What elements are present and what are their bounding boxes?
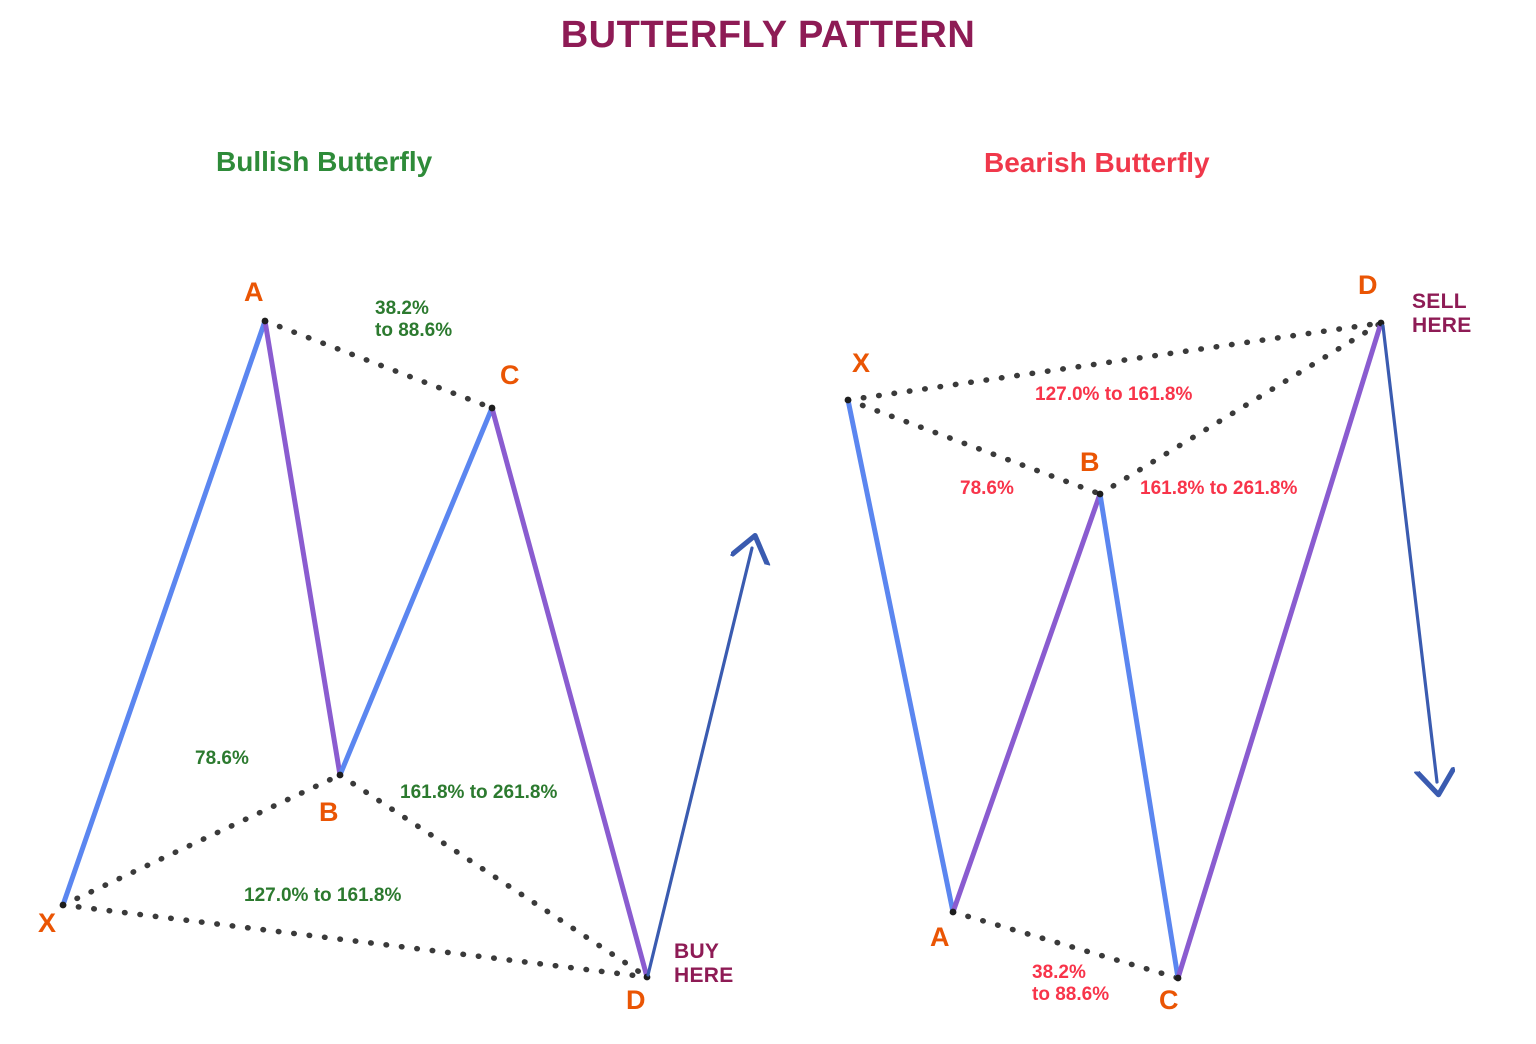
sell-here-label: SELLHERE [1412, 290, 1472, 337]
vertex-dot-bearish-X [845, 397, 852, 404]
leg-bearish-XA [848, 400, 953, 912]
fib-dotted-lines [63, 321, 1381, 978]
point-label-bullish-a: A [244, 279, 264, 306]
point-label-bearish-c: C [1159, 987, 1179, 1014]
fib-line-bullish-XD [63, 905, 647, 977]
point-label-bearish-a: A [930, 924, 950, 951]
point-label-bearish-x: X [852, 350, 870, 377]
pattern-vector-layer [0, 0, 1536, 1044]
point-label-bullish-x: X [38, 910, 56, 937]
vertex-dot-bullish-C [489, 405, 496, 412]
point-label-bullish-d: D [626, 987, 646, 1014]
leg-bullish-AB [265, 321, 340, 775]
vertex-dot-bearish-B [1097, 491, 1104, 498]
leg-bullish-CD [492, 408, 647, 977]
vertex-dot-bullish-A [262, 318, 269, 325]
leg-bullish-BC [340, 408, 492, 775]
vertex-dot-bullish-X [60, 902, 67, 909]
ratio-label-bullish-xa-retrace: 78.6% [195, 748, 249, 770]
leg-bearish-AB [953, 494, 1100, 912]
vertex-dot-bullish-B [337, 772, 344, 779]
ratio-label-bullish-bc-extension: 161.8% to 261.8% [400, 782, 557, 804]
leg-bullish-XA [63, 321, 265, 905]
point-label-bullish-c: C [500, 362, 520, 389]
fib-line-bearish-BD [1100, 323, 1381, 494]
direction-arrow-bearish [1383, 326, 1437, 782]
vertex-dot-bearish-A [950, 909, 957, 916]
point-label-bullish-b: B [319, 799, 339, 826]
point-label-bearish-b: B [1080, 449, 1100, 476]
buy-here-label: BUYHERE [674, 940, 734, 987]
butterfly-pattern-diagram: BUTTERFLY PATTERN Bullish Butterfly Bear… [0, 0, 1536, 1044]
leg-bearish-CD [1178, 323, 1381, 978]
direction-arrow-bullish [648, 548, 752, 975]
ratio-label-bearish-bc-extension: 161.8% to 261.8% [1140, 478, 1297, 500]
vertex-dot-bearish-C [1175, 975, 1182, 982]
ratio-label-bearish-xa-retrace: 78.6% [960, 478, 1014, 500]
ratio-label-bullish-ab-retrace: 38.2%to 88.6% [375, 298, 452, 343]
ratio-label-bearish-xa-extension: 127.0% to 161.8% [1035, 384, 1192, 406]
leg-bearish-BC [1100, 494, 1178, 978]
point-label-bearish-d: D [1358, 272, 1378, 299]
ratio-label-bearish-ab-retrace: 38.2%to 88.6% [1032, 962, 1109, 1007]
vertex-dots [60, 318, 1385, 982]
price-legs [63, 321, 1381, 978]
ratio-label-bullish-xa-extension: 127.0% to 161.8% [244, 885, 401, 907]
